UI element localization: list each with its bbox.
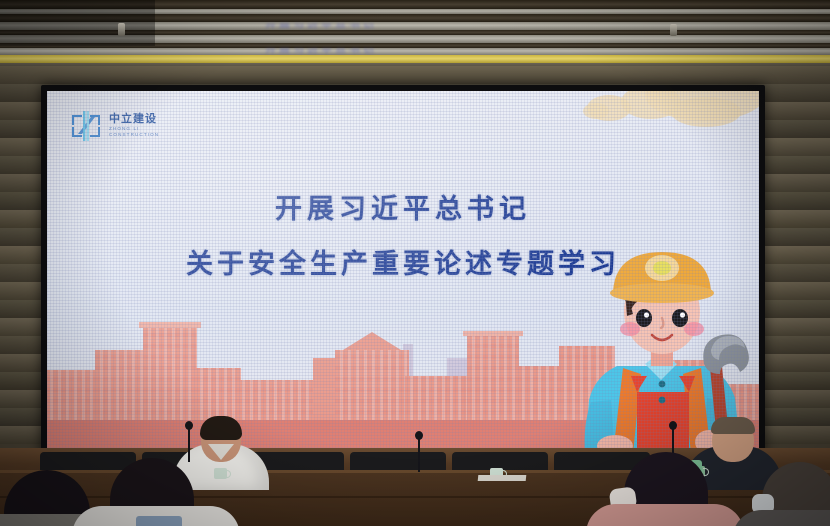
ceiling-fixture-icon	[670, 24, 677, 36]
wall-slat	[0, 66, 830, 84]
company-logo: 中立建设 ZHONG LI CONSTRUCTION	[69, 109, 159, 143]
skyline-roof-gable	[343, 332, 401, 350]
logo-name-cn: 中立建设	[109, 114, 159, 125]
ceiling: 开展习近平总书记 开展习近平总书记	[0, 0, 830, 72]
ceiling-reflection-text: 开展习近平总书记	[265, 22, 575, 30]
skyline-building-cap	[139, 322, 201, 328]
cloud-decoration-icon	[583, 103, 609, 119]
attendee-3-body	[586, 504, 744, 526]
attendee-3-head	[624, 452, 708, 512]
microphone-center	[418, 438, 420, 472]
ceiling-screen-reflection: 开展习近平总书记 开展习近平总书记	[265, 18, 575, 56]
screenshot-root: 开展习近平总书记 开展习近平总书记	[0, 0, 830, 526]
attendee-3	[590, 452, 740, 526]
document-paper	[478, 475, 527, 481]
slide-title-line-1: 开展习近平总书记	[47, 187, 759, 226]
speaker-left-hair	[200, 416, 242, 440]
microphone-left	[188, 428, 190, 462]
led-presentation-screen: 中立建设 ZHONG LI CONSTRUCTION 开展习近平总书记 关于安全…	[41, 85, 765, 460]
ceiling-shadow	[0, 0, 155, 46]
attendee-2-strap	[136, 516, 182, 526]
logo-mark-icon	[69, 109, 103, 143]
skyline-building-cap	[463, 331, 523, 336]
logo-wordmark: 中立建设 ZHONG LI CONSTRUCTION	[109, 114, 159, 137]
ceiling-accent-strip	[0, 55, 830, 63]
ceiling-fixture-icon	[118, 23, 125, 36]
attendee-2	[88, 458, 228, 526]
slide-canvas: 中立建设 ZHONG LI CONSTRUCTION 开展习近平总书记 关于安全…	[47, 91, 759, 454]
logo-name-en2: CONSTRUCTION	[109, 133, 159, 138]
attendee-4-body	[732, 510, 830, 526]
cloud-decoration-icon	[671, 97, 741, 127]
speaker-right-hair	[711, 417, 755, 434]
attendee-4	[740, 462, 830, 526]
ceiling-reflection-text-2: 开展习近平总书记	[265, 47, 575, 55]
